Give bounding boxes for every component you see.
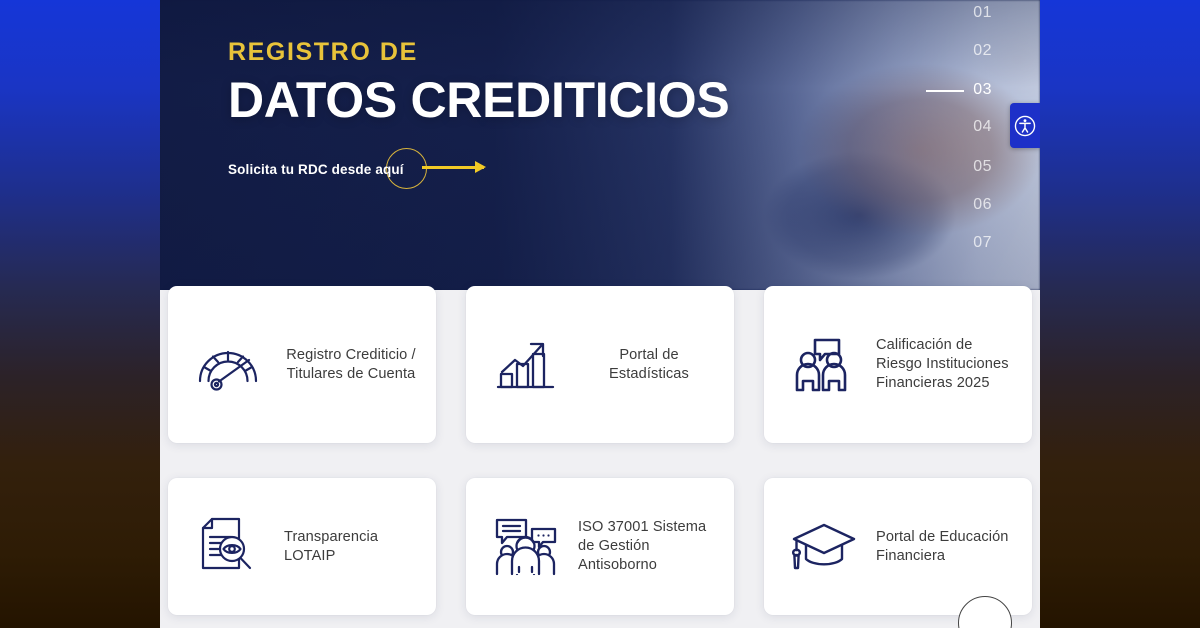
card-calificacion-riesgo[interactable]: Calificación de Riesgo Instituciones Fin… [764,286,1032,443]
hero-cta-label: Solicita tu RDC desde aquí [228,162,404,177]
card-transparencia-lotaip[interactable]: Transparencia LOTAIP [168,478,436,615]
group-people-speech-bubbles-icon [480,516,572,578]
hero-kicker: REGISTRO DE [228,40,729,65]
hero-banner: REGISTRO DE DATOS CREDITICIOS Solicita t… [160,0,1040,290]
card-label: Portal de Educación Financiera [876,528,1018,566]
card-label: Portal de Estadísticas [578,346,720,384]
slide-number-05[interactable]: 05 [973,158,992,176]
slider-pagination[interactable]: 01 02 03 04 05 06 07 [952,0,992,290]
document-magnifier-eye-icon [182,516,274,578]
two-people-speech-bubble-icon [778,334,870,396]
slide-number-02[interactable]: 02 [973,42,992,60]
hero-cta[interactable]: Solicita tu RDC desde aquí [228,152,729,186]
slide-number-06[interactable]: 06 [973,196,992,214]
card-iso-37001[interactable]: ISO 37001 Sistema de Gestión Antisoborno [466,478,734,615]
card-label: Registro Crediticio / Titulares de Cuent… [280,346,422,384]
quick-links-grid: Registro Crediticio / Titulares de Cuent… [160,286,1040,615]
accessibility-icon [1014,115,1036,137]
browser-viewport: REGISTRO DE DATOS CREDITICIOS Solicita t… [160,0,1040,628]
active-slide-tick [926,90,964,92]
bar-chart-growth-icon [480,336,572,394]
card-label: ISO 37001 Sistema de Gestión Antisoborno [578,518,720,575]
slide-number-03[interactable]: 03 [973,81,992,99]
slide-number-01[interactable]: 01 [973,4,992,22]
accessibility-widget-button[interactable] [1010,103,1040,148]
card-label: Calificación de Riesgo Instituciones Fin… [876,336,1018,393]
slide-number-04[interactable]: 04 [973,118,992,136]
slide-number-07[interactable]: 07 [973,234,992,252]
hero-content: REGISTRO DE DATOS CREDITICIOS Solicita t… [228,40,729,186]
speedometer-icon [182,336,274,394]
hero-headline: DATOS CREDITICIOS [228,74,729,127]
card-registro-crediticio[interactable]: Registro Crediticio / Titulares de Cuent… [168,286,436,443]
arrow-right-icon [422,166,484,169]
graduation-cap-icon [778,519,870,575]
card-label: Transparencia LOTAIP [280,528,422,566]
card-portal-estadisticas[interactable]: Portal de Estadísticas [466,286,734,443]
card-educacion-financiera[interactable]: Portal de Educación Financiera [764,478,1032,615]
